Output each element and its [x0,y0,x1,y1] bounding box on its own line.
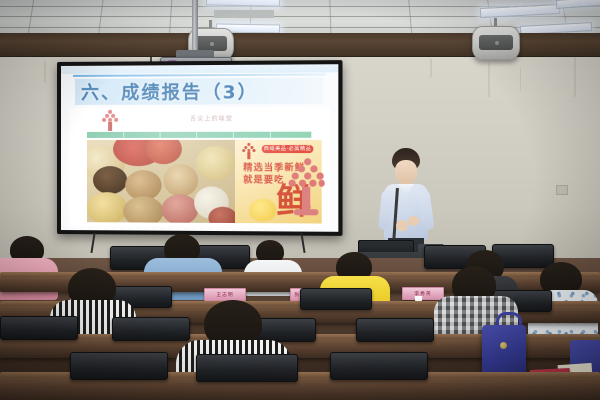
lemon-graphic [249,199,276,221]
chair-back [330,352,428,380]
slide-title-text: 六、成绩报告（3） [75,78,258,105]
handbag-clasp-icon [500,342,507,349]
presentation-room-photo: 六、成绩报告（3） 舌尖上的味觉 [0,0,600,400]
name-card: 李秀英 [402,287,444,300]
brand-logo-large-icon [289,158,324,217]
site-logo-icon [101,110,119,132]
chair-back [0,316,78,340]
chair-back [112,317,190,341]
ceiling-speaker-right [472,26,520,60]
name-card: 王志明 [204,288,246,301]
screen-surface: 六、成绩报告（3） 舌尖上的味觉 [61,64,338,232]
presenter-right-hand [408,216,419,226]
chair-back [70,352,168,380]
chair-back [196,354,298,382]
food-photo [87,140,235,223]
chair-back [356,318,434,342]
site-caption-text: 舌尖上的味觉 [190,114,233,123]
slide-top-band [61,64,338,74]
slide-body: 舌尖上的味觉 [69,107,330,228]
projection-screen: 六、成绩报告（3） 舌尖上的味觉 [57,60,343,236]
presenter-left-hand [396,220,408,231]
name-card-text: 李秀英 [414,290,431,297]
name-card-text: 王志明 [216,291,233,298]
ceiling-light-panel [556,0,600,9]
slide-canvas: 六、成绩报告（3） 舌尖上的味觉 [61,64,338,232]
site-nav-bar [87,132,311,138]
slide-title-bar: 六、成绩报告（3） [75,78,324,105]
projector-mount-pole [192,0,198,52]
chair-back [300,288,372,310]
promo-pill-text: 西域美品·必属精品 [262,145,314,153]
promo-pill: 西域美品·必属精品 [262,145,314,153]
slide-divider [73,73,326,76]
